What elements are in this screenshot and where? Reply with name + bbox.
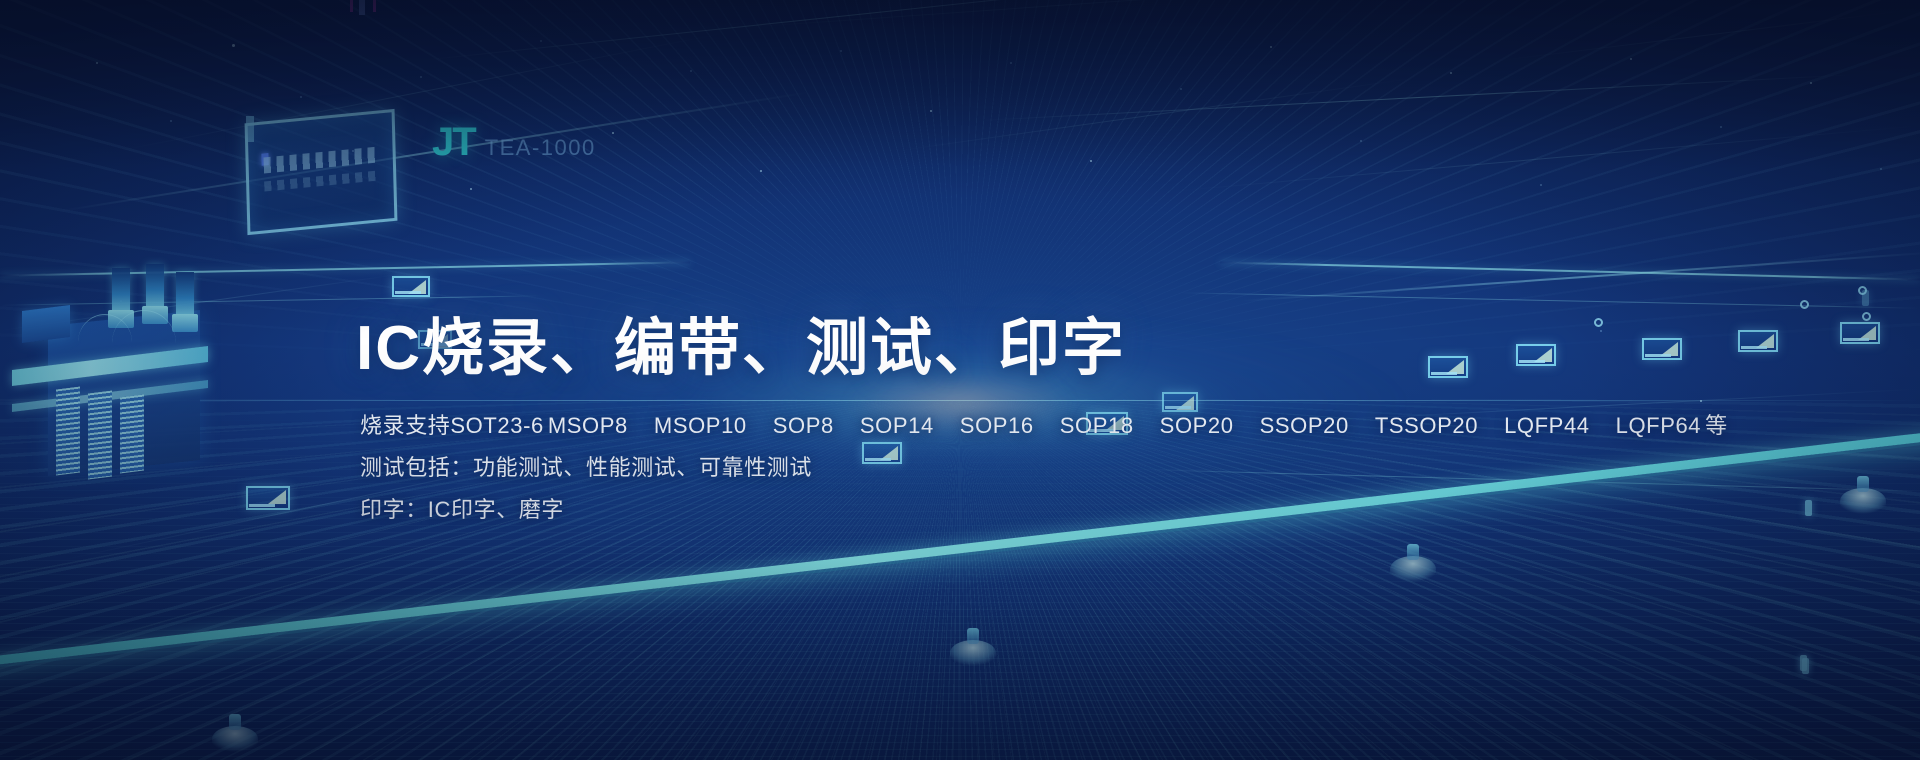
vignette-overlay xyxy=(0,0,1920,760)
ic-service-hero-banner: JT TEA-1000 IC烧录、编带、测试、印字 烧录支持SOT23-6 MS… xyxy=(0,0,1920,760)
